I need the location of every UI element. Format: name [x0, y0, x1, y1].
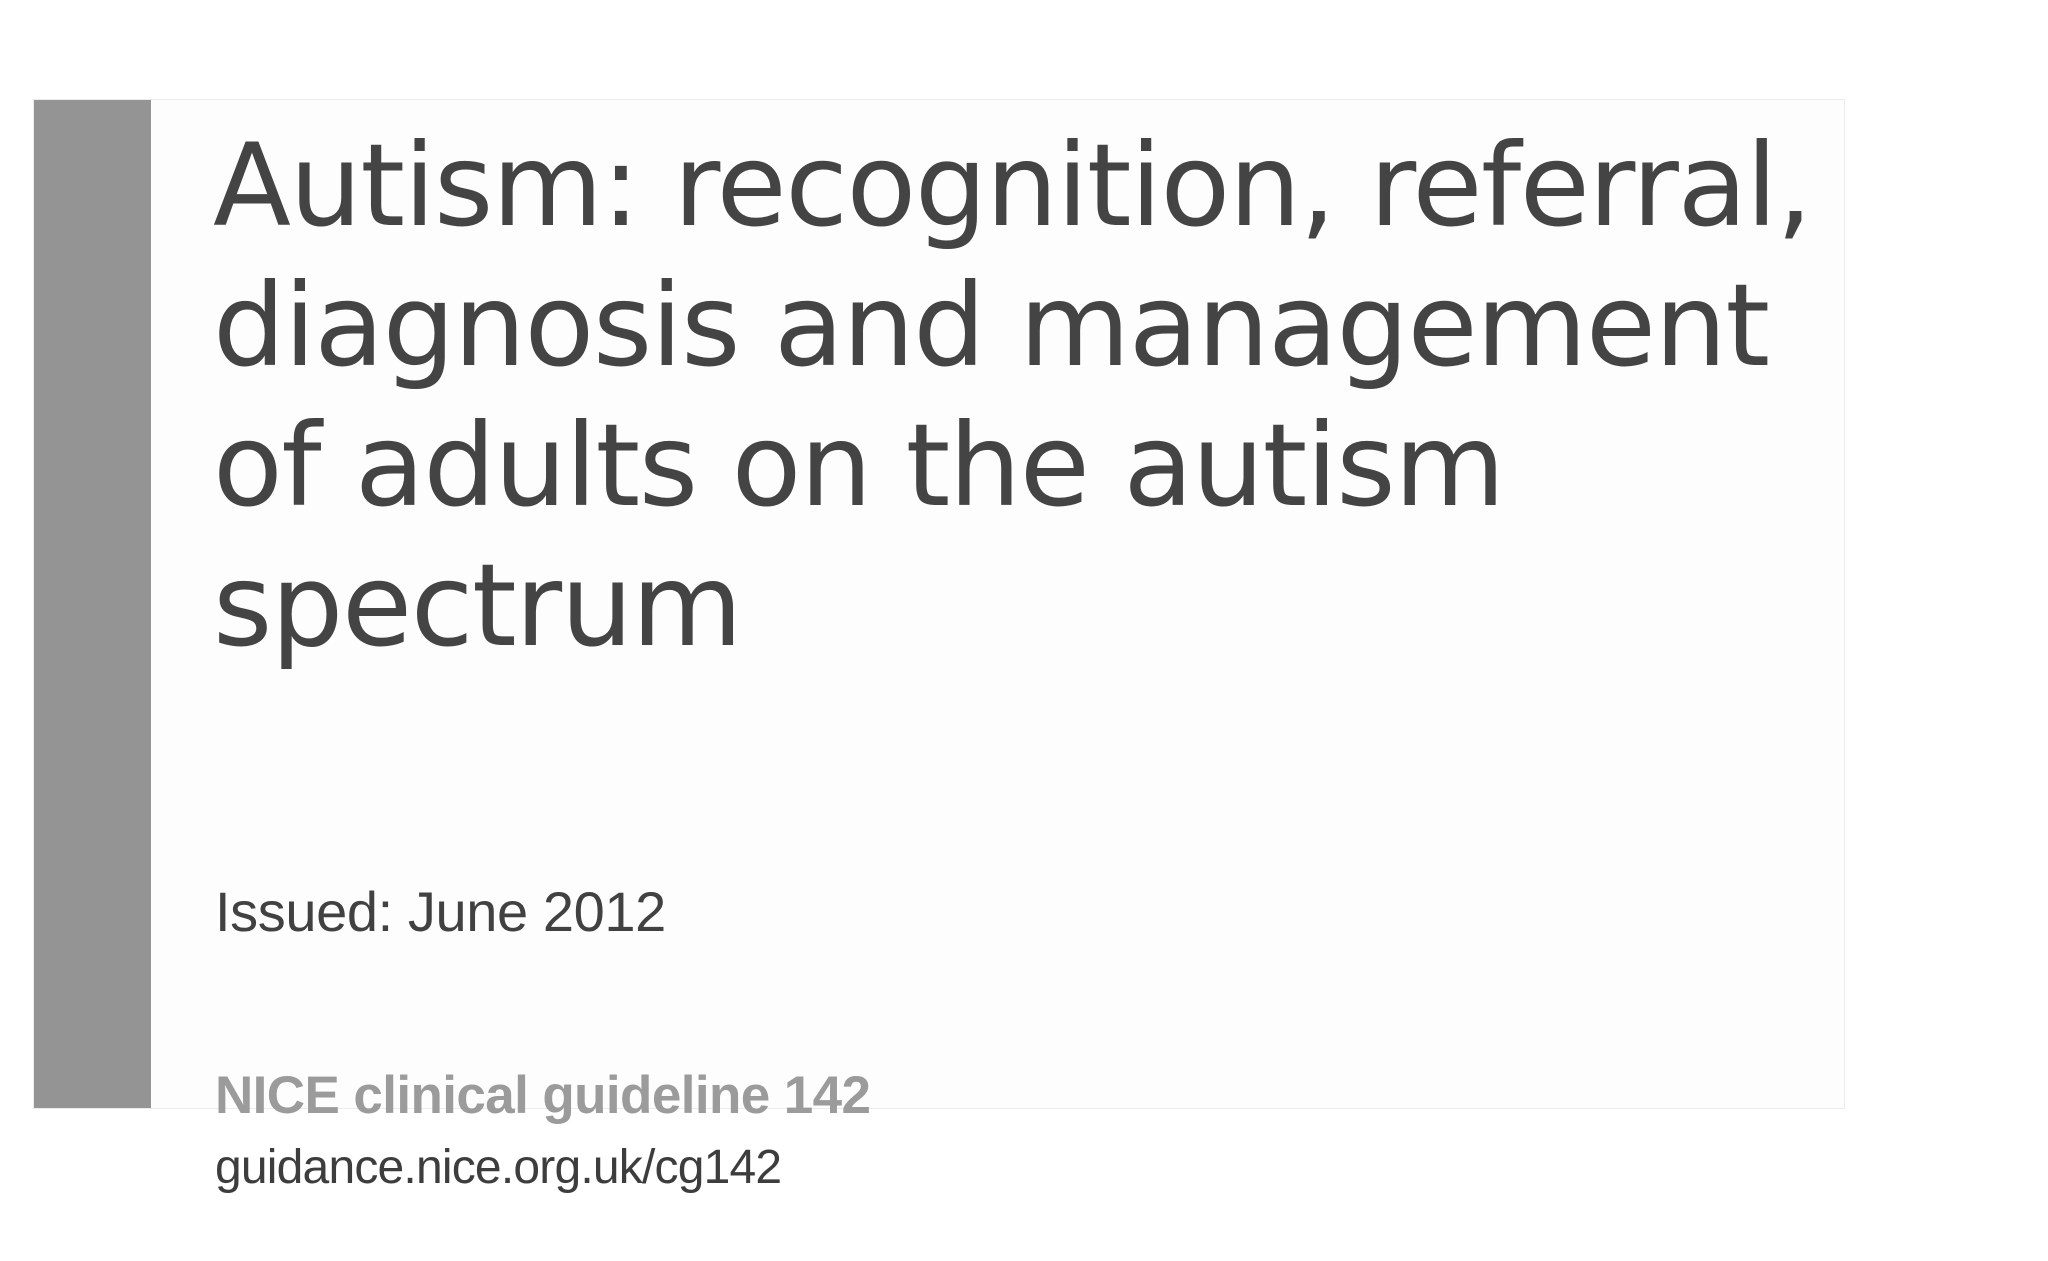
guideline-url-text: guidance.nice.org.uk/cg142 — [215, 1142, 781, 1194]
page-title: Autism: recognition, referral, diagnosis… — [213, 116, 1813, 676]
left-accent-bar — [34, 100, 151, 1108]
issued-date-text: Issued: June 2012 — [215, 882, 666, 942]
cover-card: Autism: recognition, referral, diagnosis… — [33, 99, 1845, 1109]
cover-content: Autism: recognition, referral, diagnosis… — [213, 100, 1818, 1108]
guideline-reference-text: NICE clinical guideline 142 — [215, 1068, 870, 1124]
slide-canvas: Autism: recognition, referral, diagnosis… — [0, 0, 2048, 1261]
